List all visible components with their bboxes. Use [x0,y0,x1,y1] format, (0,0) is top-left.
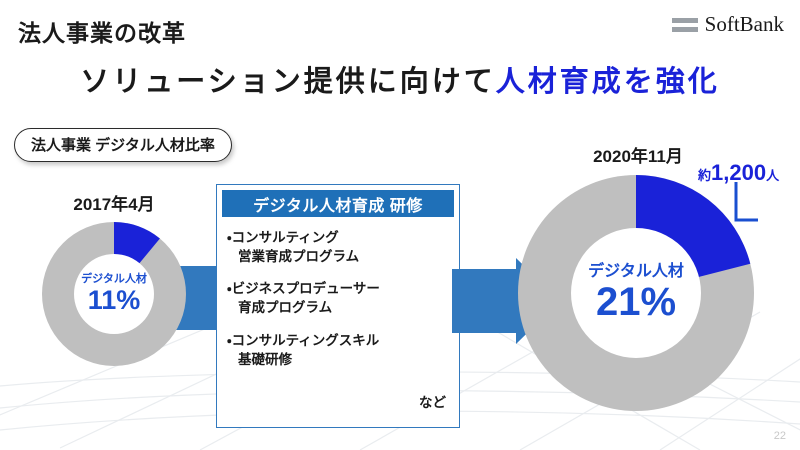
donut-2017-caption: 2017年4月 [16,190,212,215]
list-item: ・ビジネスプロデューサー 育成プログラム [227,279,451,317]
list-item: ・コンサルティング 営業育成プログラム [227,228,451,266]
page-title: 法人事業の改革 [18,14,186,48]
category-pill-label: 法人事業 デジタル人材比率 [14,128,232,162]
annotation-bracket-line [718,182,758,228]
list-item-line1: ・コンサルティング [227,230,339,245]
annotation-headcount: 約1,200人 [698,162,779,184]
training-programs-box: デジタル人材育成 研修 ・コンサルティング 営業育成プログラム ・ビジネスプロデ… [216,184,460,428]
training-box-note: など [419,391,446,411]
training-box-header: デジタル人材育成 研修 [222,190,454,217]
donut-chart-2017: 2017年4月 デジタル人材 11% [16,190,212,400]
subtitle-main-text: ソリューション提供に向けて [80,66,495,98]
list-item-line1: ・ビジネスプロデューサー [227,281,380,296]
annotation-suffix: 人 [766,168,779,183]
list-item-line2: 基礎研修 [227,350,451,369]
donut-2017-graphic: デジタル人材 11% [42,222,186,366]
list-item-line2: 営業育成プログラム [227,247,451,266]
slide-subtitle: ソリューション提供に向けて人材育成を強化 [0,58,800,100]
list-item-line2: 育成プログラム [227,298,451,317]
page-number: 22 [774,430,786,442]
softbank-logo-text: SoftBank [705,12,784,37]
subtitle-accent-text: 人材育成を強化 [496,66,720,98]
training-program-list: ・コンサルティング 営業育成プログラム ・ビジネスプロデューサー 育成プログラム… [217,217,459,369]
softbank-logo: SoftBank [672,12,784,37]
list-item-line1: ・コンサルティングスキル [227,333,379,348]
list-item: ・コンサルティングスキル 基礎研修 [227,331,451,369]
softbank-logo-bars-icon [672,18,698,32]
annotation-prefix: 約 [698,168,711,183]
slide-canvas: 法人事業の改革 SoftBank ソリューション提供に向けて人材育成を強化 法人… [0,0,800,450]
